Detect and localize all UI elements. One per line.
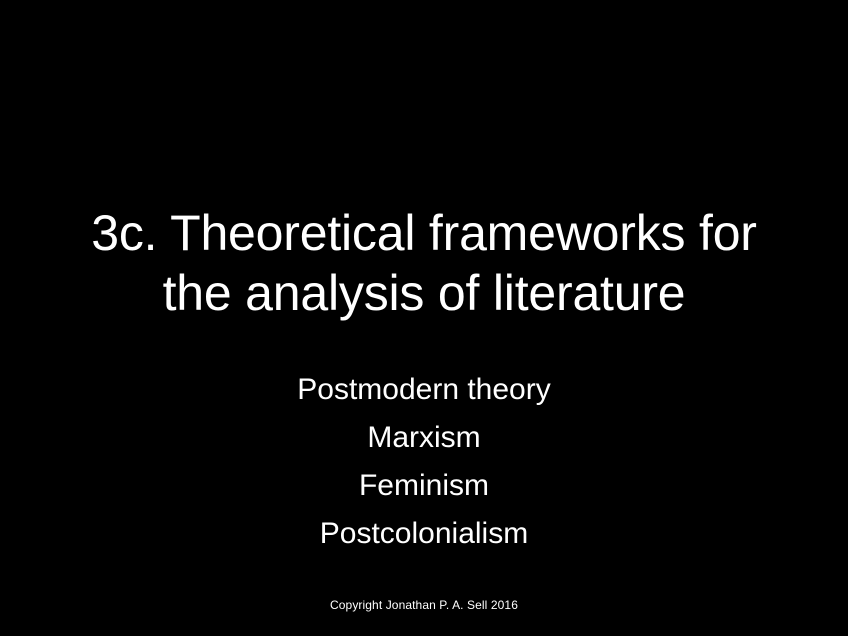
- slide-title: 3c. Theoretical frameworks for the analy…: [0, 203, 848, 323]
- subtitle-item-postcolonialism: Postcolonialism: [40, 510, 808, 558]
- title-line-2: the analysis of literature: [40, 263, 808, 323]
- subtitle-item-marxism: Marxism: [40, 414, 808, 462]
- subtitle-item-feminism: Feminism: [40, 462, 808, 510]
- copyright-notice: Copyright Jonathan P. A. Sell 2016: [330, 597, 518, 613]
- title-line-1: 3c. Theoretical frameworks for: [40, 203, 808, 263]
- slide-footer: Copyright Jonathan P. A. Sell 2016: [0, 596, 848, 614]
- presentation-slide: 3c. Theoretical frameworks for the analy…: [0, 0, 848, 636]
- slide-subtitle-list: Postmodern theory Marxism Feminism Postc…: [0, 366, 848, 558]
- subtitle-item-postmodern-theory: Postmodern theory: [40, 366, 808, 414]
